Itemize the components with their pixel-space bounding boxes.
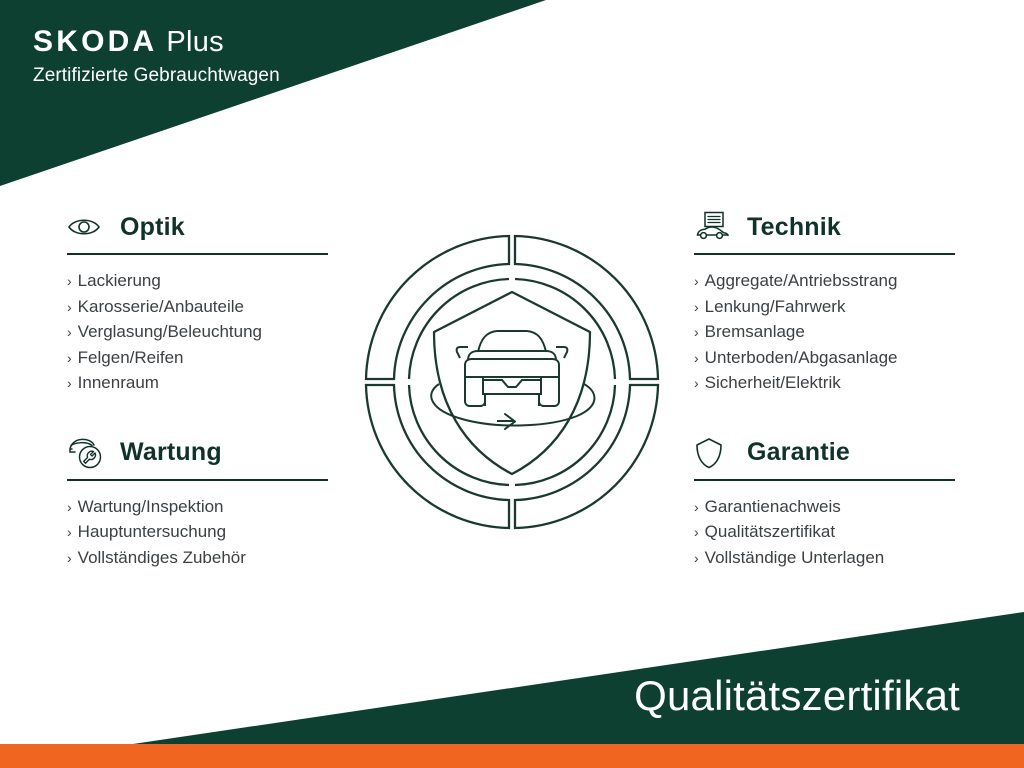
section-garantie-header: Garantie bbox=[694, 431, 956, 475]
section-divider bbox=[67, 253, 328, 255]
section-optik: Optik ›Lackierung ›Karosserie/Anbauteile… bbox=[67, 205, 329, 396]
left-column: Optik ›Lackierung ›Karosserie/Anbauteile… bbox=[67, 205, 329, 570]
list-item: ›Sicherheit/Elektrik bbox=[694, 370, 956, 396]
list-item-label: Lackierung bbox=[78, 268, 161, 294]
footer-title: Qualitätszertifikat bbox=[634, 672, 960, 720]
shield-icon bbox=[694, 433, 738, 473]
section-divider bbox=[694, 253, 955, 255]
section-optik-title: Optik bbox=[120, 213, 185, 242]
list-item-label: Garantienachweis bbox=[705, 494, 841, 520]
list-item: ›Qualitätszertifikat bbox=[694, 519, 956, 545]
section-garantie-title: Garantie bbox=[747, 438, 850, 467]
car-document-icon bbox=[694, 207, 738, 247]
orange-accent-bar bbox=[0, 744, 1024, 768]
list-item-label: Verglasung/Beleuchtung bbox=[78, 319, 262, 345]
chevron-right-icon: › bbox=[694, 322, 699, 343]
list-item-label: Felgen/Reifen bbox=[78, 345, 184, 371]
chevron-right-icon: › bbox=[694, 271, 699, 292]
section-technik-title: Technik bbox=[747, 213, 841, 242]
chevron-right-icon: › bbox=[694, 548, 699, 569]
list-item: ›Verglasung/Beleuchtung bbox=[67, 319, 329, 345]
list-item: ›Karosserie/Anbauteile bbox=[67, 294, 329, 320]
list-item: ›Innenraum bbox=[67, 370, 329, 396]
brand-name: SKODA bbox=[33, 25, 157, 58]
list-item: ›Felgen/Reifen bbox=[67, 345, 329, 371]
certificate-page: SKODAPlus Zertifizierte Gebrauchtwagen O… bbox=[0, 0, 1024, 768]
list-item-label: Aggregate/Antriebsstrang bbox=[705, 268, 898, 294]
chevron-right-icon: › bbox=[67, 497, 72, 518]
chevron-right-icon: › bbox=[67, 297, 72, 318]
section-divider bbox=[67, 479, 328, 481]
list-item-label: Karosserie/Anbauteile bbox=[78, 294, 244, 320]
eye-icon bbox=[67, 207, 111, 247]
chevron-right-icon: › bbox=[67, 548, 72, 569]
list-item: ›Lenkung/Fahrwerk bbox=[694, 294, 956, 320]
brand-wordmark: SKODAPlus bbox=[33, 27, 280, 57]
section-wartung: Wartung ›Wartung/Inspektion ›Hauptunters… bbox=[67, 431, 329, 571]
chevron-right-icon: › bbox=[694, 297, 699, 318]
wartung-list: ›Wartung/Inspektion ›Hauptuntersuchung ›… bbox=[67, 494, 329, 571]
list-item: ›Unterboden/Abgasanlage bbox=[694, 345, 956, 371]
optik-list: ›Lackierung ›Karosserie/Anbauteile ›Verg… bbox=[67, 268, 329, 396]
list-item-label: Unterboden/Abgasanlage bbox=[705, 345, 898, 371]
brand-tagline: Zertifizierte Gebrauchtwagen bbox=[33, 66, 280, 85]
right-column: Technik ›Aggregate/Antriebsstrang ›Lenku… bbox=[694, 205, 956, 570]
technik-list: ›Aggregate/Antriebsstrang ›Lenkung/Fahrw… bbox=[694, 268, 956, 396]
list-item: ›Vollständiges Zubehör bbox=[67, 545, 329, 571]
chevron-right-icon: › bbox=[67, 522, 72, 543]
list-item-label: Lenkung/Fahrwerk bbox=[705, 294, 846, 320]
list-item-label: Vollständige Unterlagen bbox=[705, 545, 885, 571]
list-item-label: Wartung/Inspektion bbox=[78, 494, 224, 520]
brand-suffix: Plus bbox=[166, 26, 224, 58]
list-item-label: Hauptuntersuchung bbox=[78, 519, 226, 545]
chevron-right-icon: › bbox=[694, 497, 699, 518]
car-wrench-icon bbox=[67, 433, 111, 473]
chevron-right-icon: › bbox=[67, 348, 72, 369]
brand-logo: SKODAPlus Zertifizierte Gebrauchtwagen bbox=[33, 27, 280, 85]
chevron-right-icon: › bbox=[694, 373, 699, 394]
list-item: ›Aggregate/Antriebsstrang bbox=[694, 268, 956, 294]
car-in-shield-emblem bbox=[352, 222, 672, 542]
section-technik-header: Technik bbox=[694, 205, 956, 249]
section-divider bbox=[694, 479, 955, 481]
list-item: ›Bremsanlage bbox=[694, 319, 956, 345]
list-item-label: Vollständiges Zubehör bbox=[78, 545, 246, 571]
list-item-label: Bremsanlage bbox=[705, 319, 805, 345]
list-item: ›Hauptuntersuchung bbox=[67, 519, 329, 545]
list-item: ›Vollständige Unterlagen bbox=[694, 545, 956, 571]
section-technik: Technik ›Aggregate/Antriebsstrang ›Lenku… bbox=[694, 205, 956, 396]
list-item-label: Innenraum bbox=[78, 370, 159, 396]
chevron-right-icon: › bbox=[694, 348, 699, 369]
list-item: ›Garantienachweis bbox=[694, 494, 956, 520]
section-wartung-header: Wartung bbox=[67, 431, 329, 475]
list-item: ›Lackierung bbox=[67, 268, 329, 294]
list-item-label: Sicherheit/Elektrik bbox=[705, 370, 841, 396]
list-item: ›Wartung/Inspektion bbox=[67, 494, 329, 520]
garantie-list: ›Garantienachweis ›Qualitätszertifikat ›… bbox=[694, 494, 956, 571]
chevron-right-icon: › bbox=[694, 522, 699, 543]
section-garantie: Garantie ›Garantienachweis ›Qualitätszer… bbox=[694, 431, 956, 571]
chevron-right-icon: › bbox=[67, 373, 72, 394]
list-item-label: Qualitätszertifikat bbox=[705, 519, 835, 545]
section-wartung-title: Wartung bbox=[120, 438, 222, 467]
chevron-right-icon: › bbox=[67, 322, 72, 343]
chevron-right-icon: › bbox=[67, 271, 72, 292]
section-optik-header: Optik bbox=[67, 205, 329, 249]
